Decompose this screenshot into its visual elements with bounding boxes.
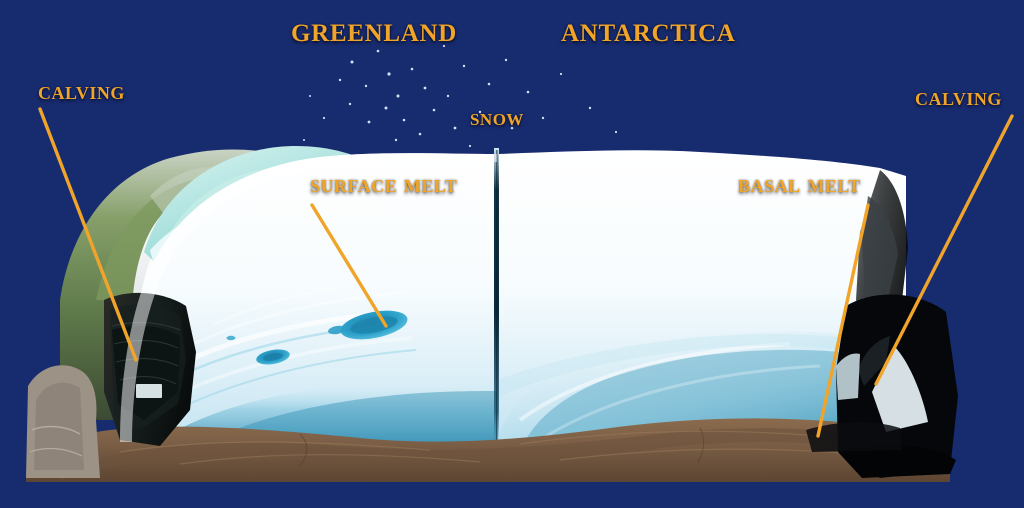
meltpond-tiny (227, 336, 236, 340)
ice-sheet-diagram: Greenland Antarctica Calving Snow Surfac… (0, 0, 1024, 508)
cross-section-illustration (0, 0, 1024, 508)
cliff-ice-notch (136, 384, 162, 398)
